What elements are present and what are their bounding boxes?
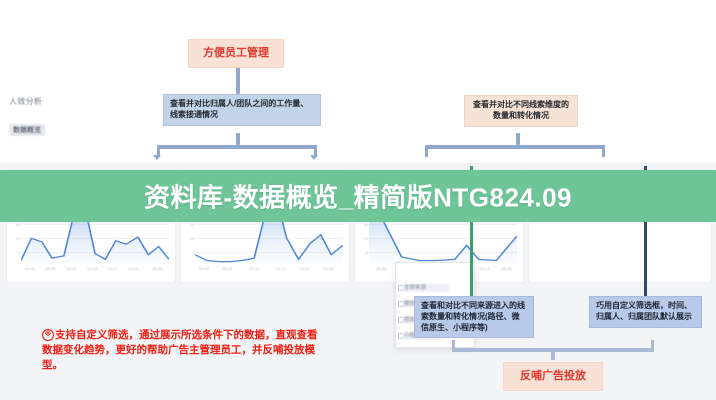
callout-top-left-note: 查看并对比归属人/团队之间的工作量、线索接通情况: [163, 94, 321, 126]
arrow-down-icon: [153, 155, 161, 160]
connector-bracket-top-right: [425, 145, 605, 149]
connector-stem-top-left: [236, 66, 240, 94]
page-title: 人效分析: [9, 96, 42, 107]
red-annotation-text: 支持自定义筛选，通过展示所选条件下的数据，直观查看数据变化趋势，更好的帮助广告主…: [42, 329, 318, 371]
dashboard-tabbar: 数据概览: [0, 119, 716, 142]
connector-stem-top-right: [516, 133, 520, 145]
connector-stem-top-left-lower: [236, 133, 240, 145]
callout-top-conclusion: 方便员工管理: [188, 39, 284, 68]
tab-data-overview[interactable]: 数据概览: [9, 124, 45, 136]
bracket-tick: [651, 340, 654, 349]
banner-title: 资料库-数据概览_精简版NTG824.09: [144, 178, 572, 215]
green-banner: 资料库-数据概览_精简版NTG824.09: [0, 170, 716, 222]
screenshot-stage: 人效分析 数据概览 线索创建时间 2024-08-01 至 2024-08-31…: [0, 0, 716, 400]
connector-bracket-top-left: [157, 145, 317, 149]
connector-stem-bottom-conclusion: [551, 348, 555, 360]
bracket-tick: [452, 340, 455, 349]
chart-x-axis: 04-0104-0504-09 04-1304-1704-2104-29: [21, 266, 169, 276]
callout-bottom-left-note: 查看和对比不同来源进入的线索数量和转化情况(路径、微信原生、小程序等): [414, 296, 534, 338]
bracket-tick: [425, 145, 428, 157]
filter-bar: 线索创建时间 2024-08-01 至 2024-08-31 归属人 请选择或搜…: [0, 141, 716, 164]
red-annotation-note: ※支持自定义筛选，通过展示所选条件下的数据，直观查看数据变化趋势，更好的帮助广告…: [42, 328, 322, 374]
arrow-down-icon: [310, 155, 318, 160]
bracket-tick: [602, 145, 605, 157]
callout-bottom-conclusion: 反哺广告投放: [503, 362, 603, 391]
chart-x-axis: 04-0304-1104-20 04-1204-2404-18: [195, 266, 343, 276]
dashboard-header: 人效分析: [0, 86, 716, 119]
callout-bottom-right-note: 巧用自定义筛选框，时间、归属人、归属团队默认展示: [589, 296, 702, 328]
dropdown-item[interactable]: 全部来源: [402, 284, 450, 292]
note-badge-icon: ※: [42, 329, 54, 341]
callout-top-right-note: 查看并对比不同线索维度的数量和转化情况: [464, 95, 578, 127]
